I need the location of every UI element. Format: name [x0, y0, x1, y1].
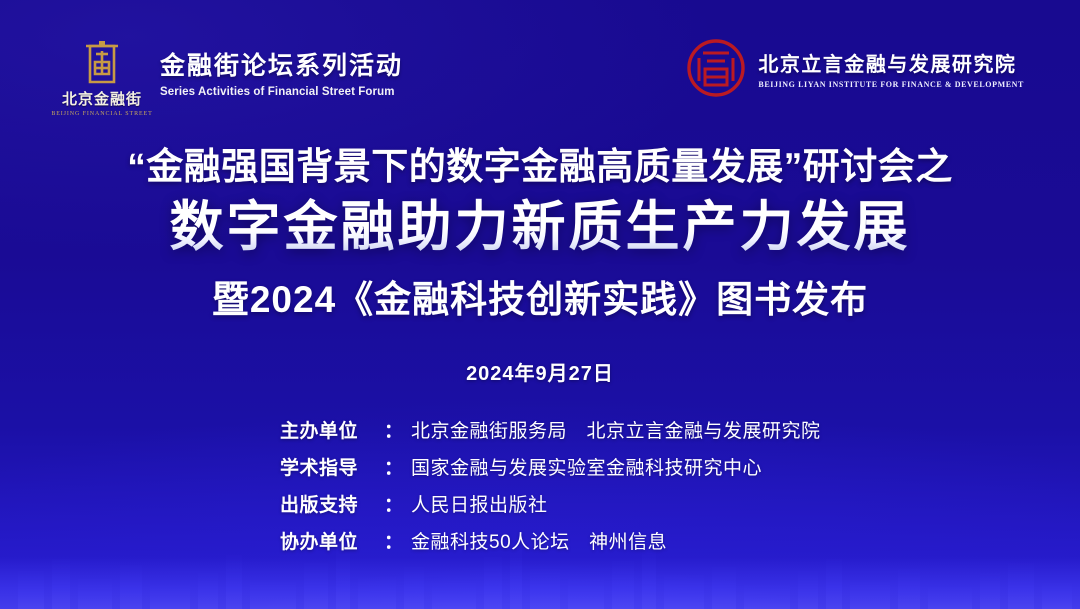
credit-label: 协办单位 — [280, 527, 384, 554]
beijing-financial-street-logo: 北京金融街 BEIJING FINANCIAL STREET 金融街论坛系列活动… — [60, 38, 403, 120]
credit-row-publishing-support: 出版支持 ： 人民日报出版社 — [0, 490, 1080, 517]
liyan-institute-logo: 北京立言金融与发展研究院 BEIJING LIYAN INSTITUTE FOR… — [686, 38, 1024, 98]
liyan-name-cn: 北京立言金融与发展研究院 — [758, 48, 1024, 77]
bfs-brand-en: BEIJING FINANCIAL STREET — [51, 111, 152, 117]
title-block: “金融强国背景下的数字金融高质量发展”研讨会之 数字金融助力新质生产力发展 暨2… — [0, 146, 1080, 386]
bfs-mark: 北京金融街 BEIJING FINANCIAL STREET — [60, 38, 144, 120]
title-line-1: “金融强国背景下的数字金融高质量发展”研讨会之 — [0, 146, 1080, 189]
liyan-text-block: 北京立言金融与发展研究院 BEIJING LIYAN INSTITUTE FOR… — [758, 48, 1024, 89]
event-date: 2024年9月27日 — [0, 357, 1080, 386]
credits-block: 主办单位 ： 北京金融街服务局 北京立言金融与发展研究院 学术指导 ： 国家金融… — [0, 416, 1080, 564]
credit-label: 出版支持 — [280, 490, 384, 517]
credit-label: 主办单位 — [280, 416, 384, 443]
credit-value: 国家金融与发展实验室金融科技研究中心 — [411, 453, 762, 480]
beijing-financial-street-seal-icon — [82, 40, 122, 86]
forum-title-block: 金融街论坛系列活动 Series Activities of Financial… — [160, 38, 403, 98]
title-line-3: 暨2024《金融科技创新实践》图书发布 — [0, 269, 1080, 323]
bfs-brand-cn: 北京金融街 — [62, 88, 142, 109]
credit-row-academic-guidance: 学术指导 ： 国家金融与发展实验室金融科技研究中心 — [0, 453, 1080, 480]
credit-row-co-organizer: 协办单位 ： 金融科技50人论坛 神州信息 — [0, 527, 1080, 554]
credit-colon: ： — [384, 527, 403, 554]
event-poster: 北京金融街 BEIJING FINANCIAL STREET 金融街论坛系列活动… — [0, 0, 1080, 609]
credit-colon: ： — [384, 453, 403, 480]
credit-value: 金融科技50人论坛 神州信息 — [411, 527, 667, 554]
credit-value: 北京金融街服务局 北京立言金融与发展研究院 — [411, 416, 821, 443]
forum-title-en: Series Activities of Financial Street Fo… — [160, 86, 403, 98]
poster-header: 北京金融街 BEIJING FINANCIAL STREET 金融街论坛系列活动… — [0, 32, 1080, 124]
title-line-2: 数字金融助力新质生产力发展 — [0, 196, 1080, 260]
credit-row-organizer: 主办单位 ： 北京金融街服务局 北京立言金融与发展研究院 — [0, 416, 1080, 443]
liyan-institute-round-seal-icon — [686, 38, 746, 98]
credit-colon: ： — [384, 416, 403, 443]
credit-value: 人民日报出版社 — [411, 490, 548, 517]
forum-title-cn: 金融街论坛系列活动 — [160, 46, 403, 82]
liyan-name-en: BEIJING LIYAN INSTITUTE FOR FINANCE & DE… — [758, 80, 1024, 89]
credit-colon: ： — [384, 490, 403, 517]
credit-label: 学术指导 — [280, 453, 384, 480]
